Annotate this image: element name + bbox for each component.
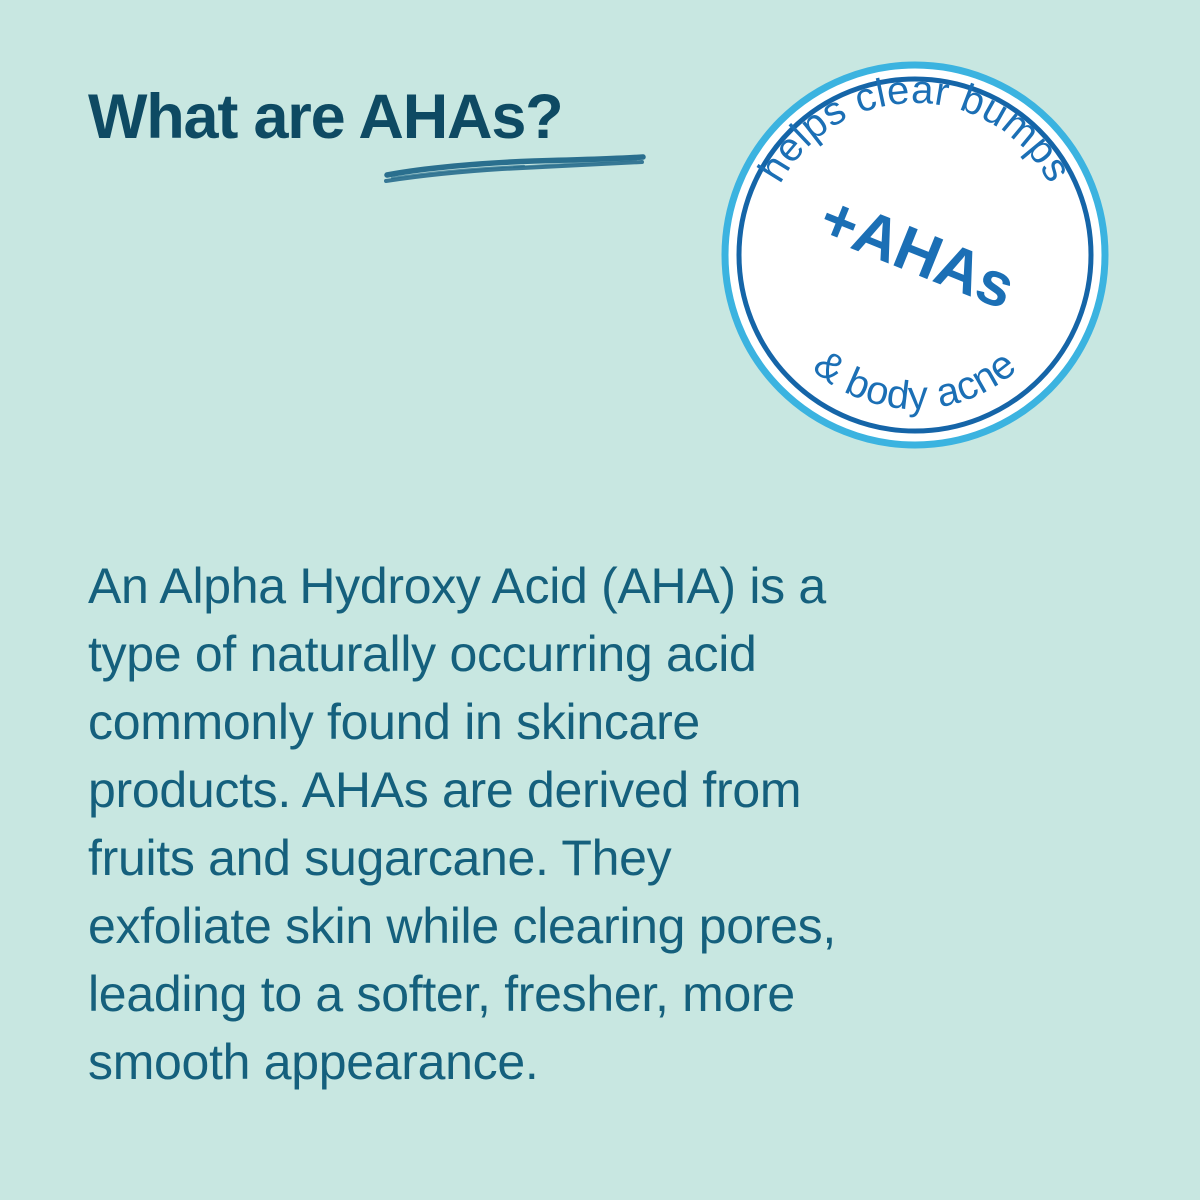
page-title: What are AHAs? xyxy=(88,86,728,149)
body-line: type of naturally occurring acid xyxy=(88,620,1088,688)
body-line: fruits and sugarcane. They xyxy=(88,824,1088,892)
body-line: products. AHAs are derived from xyxy=(88,756,1088,824)
heading-block: What are AHAs? xyxy=(88,86,728,196)
body-line: exfoliate skin while clearing pores, xyxy=(88,892,1088,960)
body-line: leading to a softer, fresher, more xyxy=(88,960,1088,1028)
promo-card: What are AHAs? helps clear bumps xyxy=(0,0,1200,1200)
body-line: commonly found in skincare xyxy=(88,688,1088,756)
body-paragraph: An Alpha Hydroxy Acid (AHA) is a type of… xyxy=(88,552,1088,1096)
body-line: An Alpha Hydroxy Acid (AHA) is a xyxy=(88,552,1088,620)
aha-badge-seal: helps clear bumps & body acne +AHAs xyxy=(718,58,1112,452)
body-line: smooth appearance. xyxy=(88,1028,1088,1096)
hand-drawn-underline-icon xyxy=(384,148,646,188)
